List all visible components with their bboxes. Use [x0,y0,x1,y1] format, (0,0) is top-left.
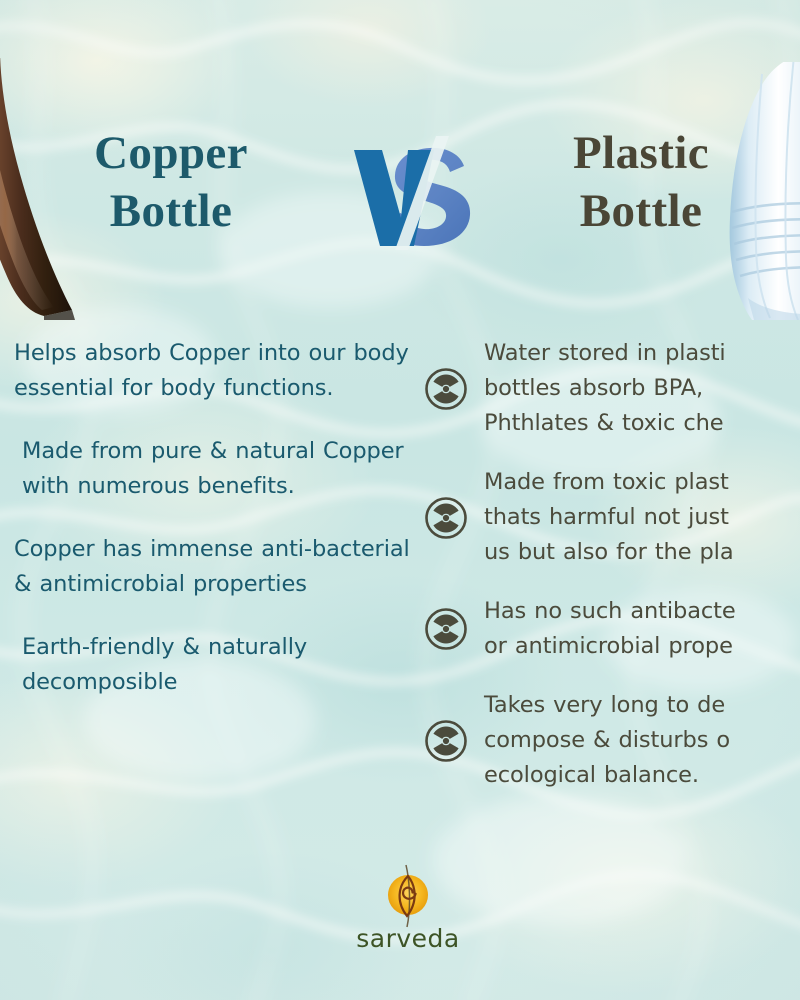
copper-benefits-list: Helps absorb Copper into our body essent… [0,336,420,700]
list-item: Water stored in plasti bottles absorb BP… [424,336,800,441]
list-item: Copper has immense anti-bacterial & anti… [0,532,420,602]
copper-title-line-1: Copper [94,127,248,179]
vs-badge-icon: VS [352,130,482,250]
radioactive-hazard-icon [424,367,468,411]
list-item: Made from toxic plast thats harmful not … [424,465,800,570]
harm-line: thats harmful not just [484,504,729,530]
plastic-title-line-1: Plastic [573,127,709,179]
harm-line: Phthlates & toxic che [484,410,724,436]
brand-name: sarveda [338,924,478,953]
brand-logo: sarveda [338,864,478,968]
benefit-text: Copper has immense anti-bacterial & anti… [14,536,410,597]
benefit-text: Earth-friendly & naturally decomposible [22,634,307,695]
harm-line: or antimicrobial prope [484,633,733,659]
harm-text: Water stored in plasti bottles absorb BP… [484,336,726,441]
list-item: Helps absorb Copper into our body essent… [0,336,420,406]
plastic-harms-list: Water stored in plasti bottles absorb BP… [424,336,800,793]
list-item: Has no such antibacte or antimicrobial p… [424,594,800,664]
list-item: Earth-friendly & naturally decomposible [0,630,420,700]
radioactive-hazard-icon [424,496,468,540]
harm-line: bottles absorb BPA, [484,375,703,401]
harm-line: compose & disturbs o [484,727,730,753]
benefit-text: Made from pure & natural Copper with num… [22,438,404,499]
harm-text: Takes very long to de compose & disturbs… [484,688,730,793]
radioactive-hazard-icon [424,607,468,651]
harm-line: Made from toxic plast [484,469,729,495]
harm-text: Made from toxic plast thats harmful not … [484,465,734,570]
harm-line: us but also for the pla [484,539,734,565]
benefit-text: Helps absorb Copper into our body essent… [14,340,409,401]
spiral-sun-logo-icon [376,864,440,928]
harm-line: Water stored in plasti [484,340,726,366]
list-item: Made from pure & natural Copper with num… [0,434,420,504]
radioactive-hazard-icon [424,719,468,763]
list-item: Takes very long to de compose & disturbs… [424,688,800,793]
copper-title-line-2: Bottle [110,185,232,237]
header: Copper Bottle VS Plastic Bottle [0,112,800,264]
harm-text: Has no such antibacte or antimicrobial p… [484,594,736,664]
page-title-copper: Copper Bottle [36,124,306,241]
infographic-canvas: Copper Bottle VS Plastic Bottle [0,0,800,1000]
plastic-title-line-2: Bottle [580,185,702,237]
page-title-plastic: Plastic Bottle [506,124,776,241]
harm-line: ecological balance. [484,762,699,788]
harm-line: Has no such antibacte [484,598,736,624]
harm-line: Takes very long to de [484,692,725,718]
